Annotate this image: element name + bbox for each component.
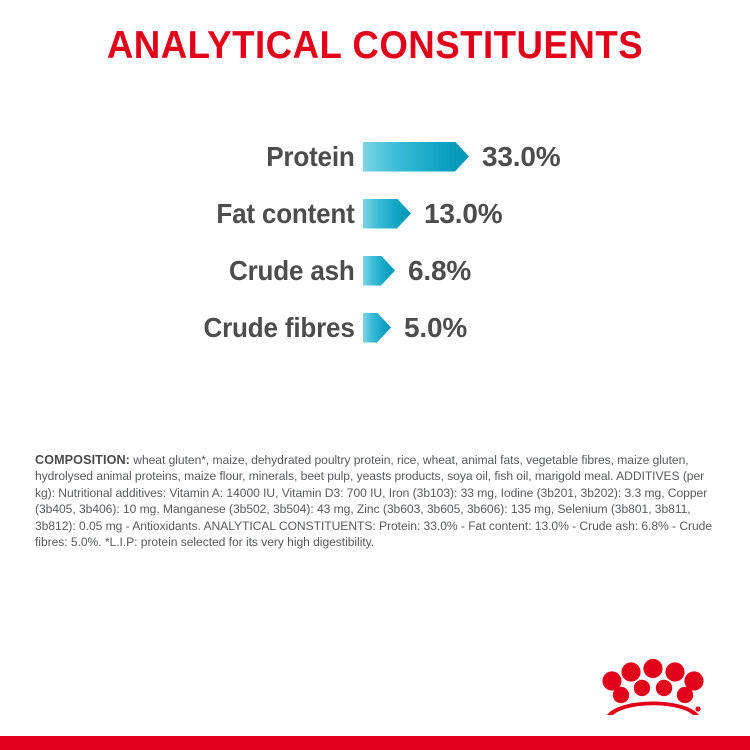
- constituent-bar: [363, 313, 391, 343]
- constituent-bar-wrap: [363, 142, 469, 172]
- constituent-row-protein: Protein 33.0%: [0, 128, 750, 185]
- constituent-label: Crude fibres: [25, 312, 363, 344]
- constituent-bar-wrap: [363, 256, 395, 286]
- constituent-row-fat-content: Fat content 13.0%: [0, 185, 750, 242]
- constituent-bar-wrap: [363, 199, 411, 229]
- nutrition-panel: ANALYTICAL CONSTITUENTS Protein 33.0% Fa…: [0, 0, 750, 750]
- constituent-value: 13.0%: [411, 198, 502, 230]
- constituent-label: Crude ash: [25, 255, 363, 287]
- constituent-bar: [363, 199, 411, 229]
- constituent-value: 5.0%: [391, 312, 467, 344]
- constituent-label: Protein: [25, 141, 363, 173]
- composition-heading: COMPOSITION:: [35, 453, 130, 467]
- bottom-accent-bar: [0, 736, 750, 750]
- constituent-label: Fat content: [25, 198, 363, 230]
- constituent-row-crude-fibres: Crude fibres 5.0%: [0, 299, 750, 356]
- royal-canin-crown-logo: [597, 657, 709, 719]
- composition-text: COMPOSITION: wheat gluten*, maize, dehyd…: [35, 452, 717, 550]
- analytical-constituents-chart: Protein 33.0% Fat content 13.0% Crude as…: [0, 128, 750, 356]
- constituent-bar: [363, 142, 469, 172]
- page-title: ANALYTICAL CONSTITUENTS: [23, 24, 728, 68]
- constituent-row-crude-ash: Crude ash 6.8%: [0, 242, 750, 299]
- constituent-value: 6.8%: [395, 255, 471, 287]
- constituent-value: 33.0%: [469, 141, 560, 173]
- constituent-bar: [363, 256, 395, 286]
- composition-body: wheat gluten*, maize, dehydrated poultry…: [35, 453, 712, 549]
- constituent-bar-wrap: [363, 313, 391, 343]
